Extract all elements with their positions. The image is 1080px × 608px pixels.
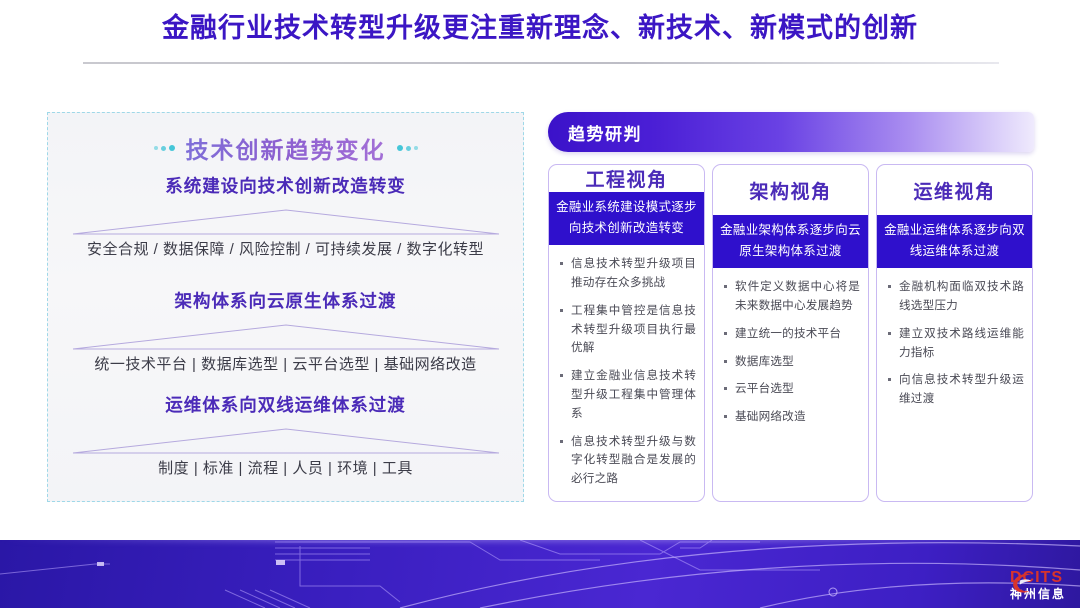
chevron-divider-2 [71, 321, 501, 351]
card-band: 金融业运维体系逐步向双线运维体系过渡 [877, 215, 1032, 268]
trend-change-panel: 技术创新趋势变化 系统建设向技术创新改造转变 安全合规 / 数据保障 / 风险控… [47, 112, 524, 502]
list-item: 信息技术转型升级与数字化转型融合是发展的必行之路 [557, 433, 696, 489]
list-item: 建立双技术路线运维能力指标 [885, 325, 1024, 363]
dots-left-icon [154, 145, 175, 151]
company-logo: DCITS 神州信息 [1010, 570, 1066, 600]
trend-change-heading-label: 技术创新趋势变化 [186, 131, 386, 165]
perspective-card-operations[interactable]: 运维视角 金融业运维体系逐步向双线运维体系过渡 金融机构面临双技术路线选型压力 … [876, 164, 1033, 502]
card-bullet-list: 金融机构面临双技术路线选型压力 建立双技术路线运维能力指标 向信息技术转型升级运… [885, 278, 1024, 409]
trend-judgement-header: 趋势研判 [548, 112, 1034, 152]
list-item: 工程集中管控是信息技术转型升级项目执行最优解 [557, 302, 696, 358]
trend-group-3: 运维体系向双线运维体系过渡 制度 | 标准 | 流程 | 人员 | 环境 | 工… [48, 392, 523, 478]
list-item: 基础网络改造 [721, 408, 860, 427]
dcits-mark-icon [1010, 570, 1036, 596]
trend-group-2-subtitle: 架构体系向云原生体系过渡 [48, 288, 523, 313]
trend-judgement-panel: 趋势研判 工程视角 金融业系统建设模式逐步向技术创新改造转变 信息技术转型升级项… [548, 112, 1034, 504]
trend-judgement-header-label: 趋势研判 [568, 112, 642, 152]
card-title: 运维视角 [877, 165, 1032, 215]
trend-group-3-items: 制度 | 标准 | 流程 | 人员 | 环境 | 工具 [48, 457, 523, 478]
list-item: 建立金融业信息技术转型升级工程集中管理体系 [557, 367, 696, 423]
trend-group-1-subtitle: 系统建设向技术创新改造转变 [48, 173, 523, 198]
trend-change-heading: 技术创新趋势变化 [48, 131, 523, 165]
trend-group-2-items: 统一技术平台 | 数据库选型 | 云平台选型 | 基础网络改造 [48, 353, 523, 374]
card-body: 软件定义数据中心将是未来数据中心发展趋势 建立统一的技术平台 数据库选型 云平台… [713, 268, 868, 501]
perspective-card-list: 工程视角 金融业系统建设模式逐步向技术创新改造转变 信息技术转型升级项目推动存在… [548, 164, 1034, 504]
card-band: 金融业系统建设模式逐步向技术创新改造转变 [549, 192, 704, 245]
card-title: 架构视角 [713, 165, 868, 215]
list-item: 向信息技术转型升级运维过渡 [885, 371, 1024, 409]
card-body: 信息技术转型升级项目推动存在众多挑战 工程集中管控是信息技术转型升级项目执行最优… [549, 245, 704, 502]
circuit-decoration-icon [0, 540, 1080, 608]
list-item: 云平台选型 [721, 380, 860, 399]
title-divider [83, 62, 999, 64]
card-band: 金融业架构体系逐步向云原生架构体系过渡 [713, 215, 868, 268]
footer-band: DCITS 神州信息 [0, 540, 1080, 608]
trend-group-1-items: 安全合规 / 数据保障 / 风险控制 / 可持续发展 / 数字化转型 [48, 238, 523, 259]
chevron-divider-3 [71, 425, 501, 455]
list-item: 信息技术转型升级项目推动存在众多挑战 [557, 255, 696, 293]
dots-right-icon [397, 145, 418, 151]
trend-group-1: 系统建设向技术创新改造转变 安全合规 / 数据保障 / 风险控制 / 可持续发展… [48, 173, 523, 259]
card-title: 工程视角 [549, 165, 704, 192]
trend-group-3-subtitle: 运维体系向双线运维体系过渡 [48, 392, 523, 417]
list-item: 数据库选型 [721, 353, 860, 372]
perspective-card-engineering[interactable]: 工程视角 金融业系统建设模式逐步向技术创新改造转变 信息技术转型升级项目推动存在… [548, 164, 705, 502]
card-bullet-list: 软件定义数据中心将是未来数据中心发展趋势 建立统一的技术平台 数据库选型 云平台… [721, 278, 860, 427]
list-item: 建立统一的技术平台 [721, 325, 860, 344]
trend-group-2: 架构体系向云原生体系过渡 统一技术平台 | 数据库选型 | 云平台选型 | 基础… [48, 288, 523, 374]
list-item: 金融机构面临双技术路线选型压力 [885, 278, 1024, 316]
perspective-card-architecture[interactable]: 架构视角 金融业架构体系逐步向云原生架构体系过渡 软件定义数据中心将是未来数据中… [712, 164, 869, 502]
page-title: 金融行业技术转型升级更注重新理念、新技术、新模式的创新 [0, 12, 1080, 44]
list-item: 软件定义数据中心将是未来数据中心发展趋势 [721, 278, 860, 316]
page-title-container: 金融行业技术转型升级更注重新理念、新技术、新模式的创新 [0, 12, 1080, 44]
chevron-divider-1 [71, 206, 501, 236]
card-body: 金融机构面临双技术路线选型压力 建立双技术路线运维能力指标 向信息技术转型升级运… [877, 268, 1032, 501]
card-bullet-list: 信息技术转型升级项目推动存在众多挑战 工程集中管控是信息技术转型升级项目执行最优… [557, 255, 696, 489]
